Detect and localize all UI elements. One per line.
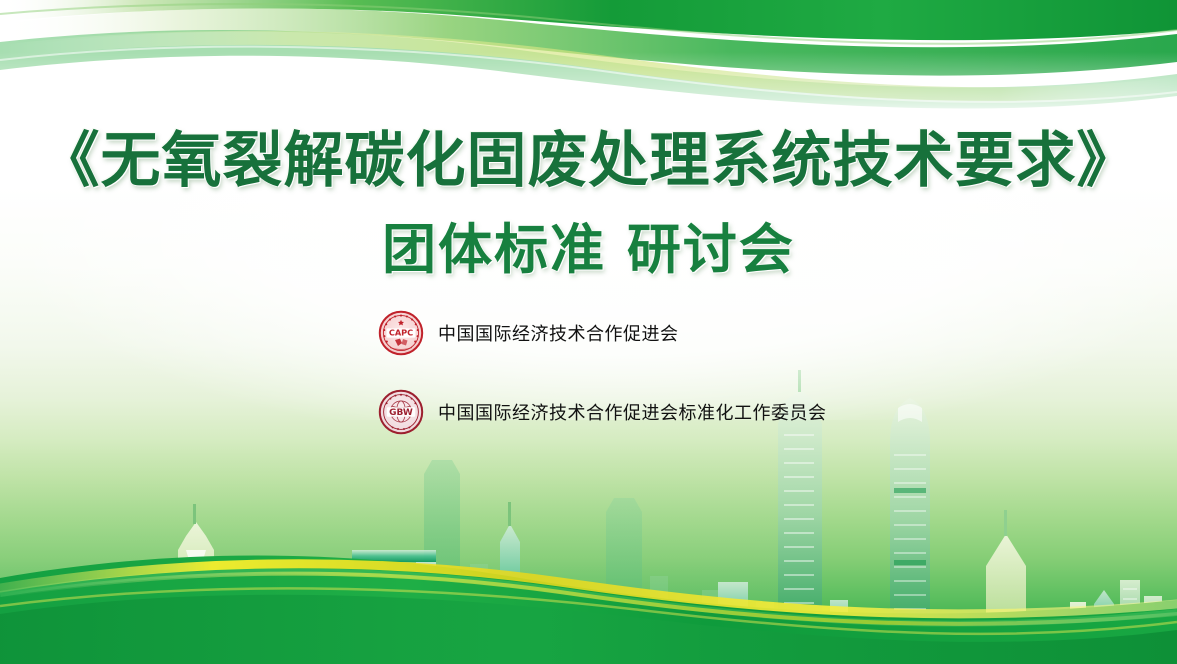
organization-name-1: 中国国际经济技术合作促进会 [438, 320, 679, 346]
svg-text:CAPC: CAPC [389, 328, 413, 338]
svg-text:GBW: GBW [389, 408, 413, 418]
slide-content: 《无氧裂解碳化固废处理系统技术要求》 团体标准 研讨会 [0, 0, 1177, 664]
gbw-seal-icon: GBW [378, 389, 424, 435]
organization-name-2: 中国国际经济技术合作促进会标准化工作委员会 [438, 399, 827, 425]
organization-row-2: GBW 中国国际经济技术合作促进会标准化工作委员会 [378, 389, 827, 435]
page-title: 《无氧裂解碳化固废处理系统技术要求》 [0, 112, 1177, 199]
capc-seal-icon: CAPC [378, 310, 424, 356]
page-subtitle: 团体标准 研讨会 [0, 205, 1177, 284]
organization-row-1: CAPC 中国国际经济技术合作促进会 [378, 310, 679, 356]
presentation-slide: 《无氧裂解碳化固废处理系统技术要求》 团体标准 研讨会 [0, 0, 1177, 664]
